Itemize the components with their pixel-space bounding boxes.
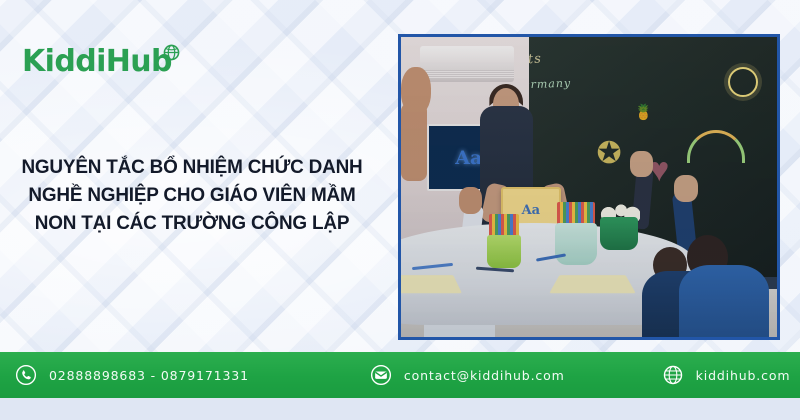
child-body xyxy=(679,265,769,337)
child-hand-raised xyxy=(674,175,698,202)
contact-website[interactable]: kiddihub.com xyxy=(661,363,791,387)
worksheet-paper xyxy=(401,275,462,293)
child-hand-raised xyxy=(630,151,653,177)
air-conditioner-vent xyxy=(420,70,514,79)
contact-phone[interactable]: 02888898683 - 0879171331 xyxy=(14,363,249,387)
brand-logo-text: KiddiHub xyxy=(22,47,172,77)
footer-bottom-strip xyxy=(0,398,800,420)
flower-pot xyxy=(600,217,638,250)
pencil-cup-mint xyxy=(555,223,596,265)
star-drawing-icon: ✪ xyxy=(597,136,622,171)
globe-icon xyxy=(661,363,685,387)
child-arm-raised xyxy=(401,103,427,181)
pineapple-drawing-icon: 🍍 xyxy=(634,103,653,121)
contact-phone-label: 02888898683 - 0879171331 xyxy=(49,368,249,383)
contact-bar: 02888898683 - 0879171331 contact@kiddihu… xyxy=(0,352,800,398)
hero-photo: School subjects english and germany Aa ✪… xyxy=(398,34,780,340)
banner-root: KiddiHub NGUYÊN TẮC BỔ NHIỆM CHỨC DANH N… xyxy=(0,0,800,420)
globe-icon xyxy=(163,44,180,61)
brand-logo[interactable]: KiddiHub xyxy=(22,47,180,77)
child-hand-raised xyxy=(459,187,482,214)
email-icon xyxy=(369,363,393,387)
classroom-scene: School subjects english and germany Aa ✪… xyxy=(401,37,777,337)
worksheet-paper xyxy=(549,275,636,293)
pencil-cup-green xyxy=(487,235,521,268)
page-title: NGUYÊN TẮC BỔ NHIỆM CHỨC DANH NGHỀ NGHIỆ… xyxy=(21,153,362,237)
contact-email[interactable]: contact@kiddihub.com xyxy=(369,363,565,387)
phone-icon xyxy=(14,363,38,387)
sun-drawing-icon xyxy=(728,67,758,97)
wall-screen-letters: Aa xyxy=(455,147,482,169)
contact-website-label: kiddihub.com xyxy=(696,368,791,383)
contact-email-label: contact@kiddihub.com xyxy=(404,368,565,383)
